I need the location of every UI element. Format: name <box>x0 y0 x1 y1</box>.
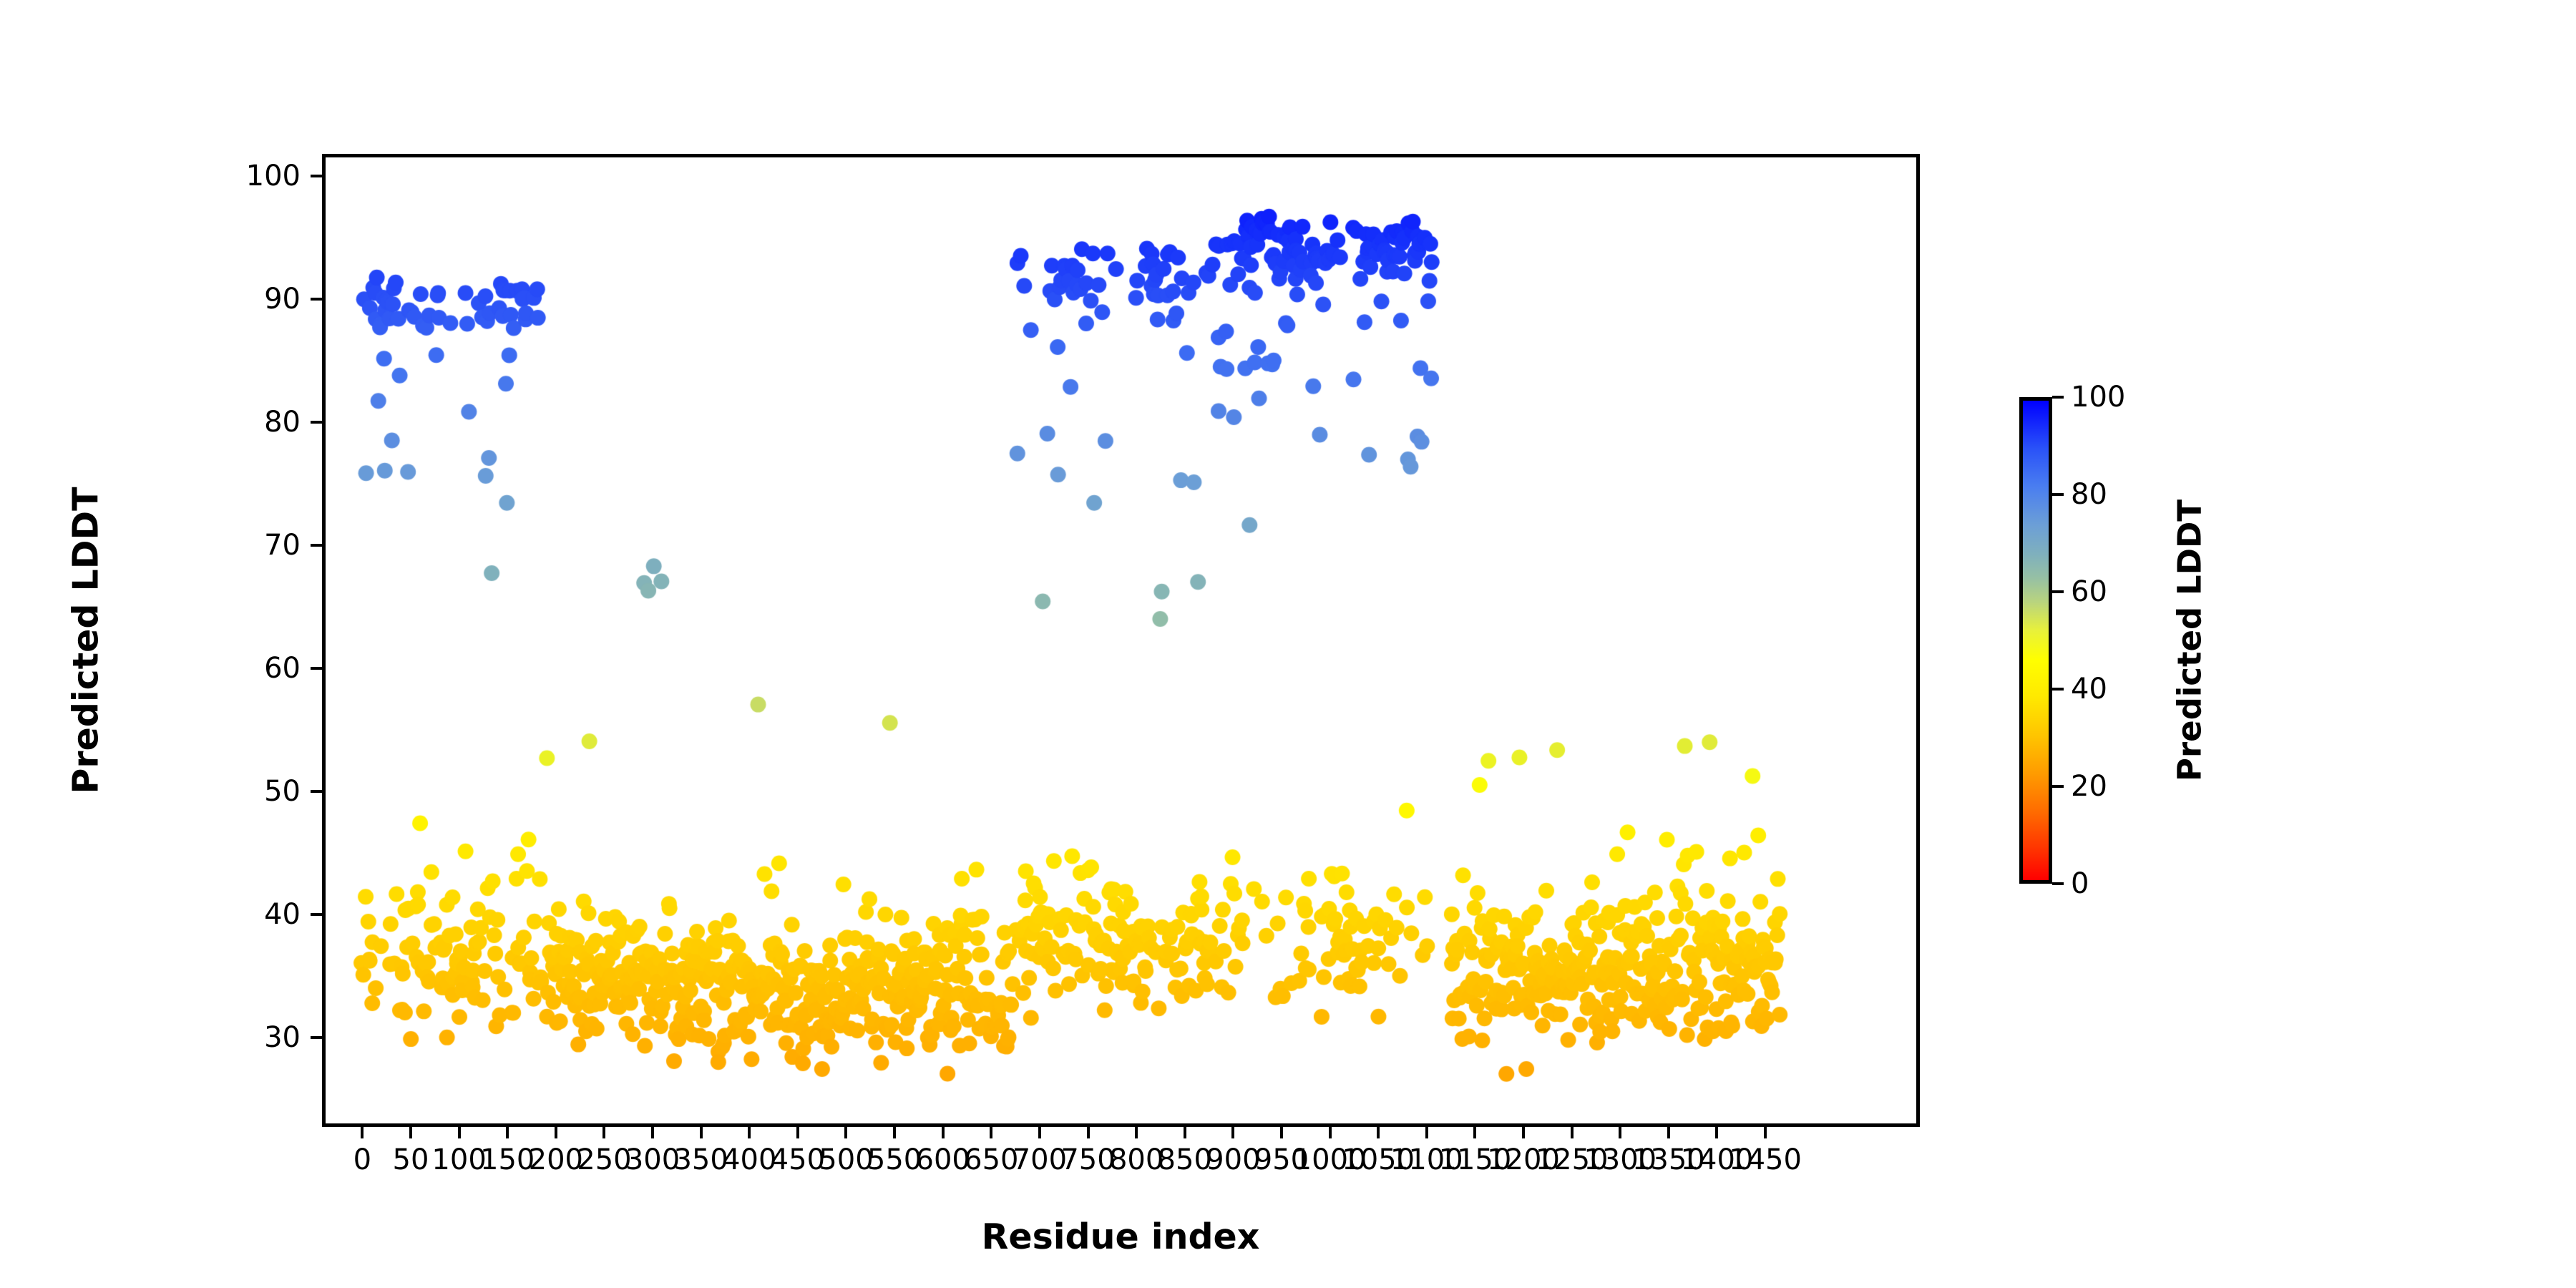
x-tick-mark <box>1038 1127 1041 1138</box>
x-tick-mark <box>700 1127 703 1138</box>
x-tick-mark <box>409 1127 412 1138</box>
y-tick-mark <box>311 421 322 424</box>
colorbar-tick-label: 60 <box>2071 575 2107 608</box>
x-tick-mark <box>1667 1127 1670 1138</box>
x-tick-mark <box>1619 1127 1621 1138</box>
x-tick-label: 850 <box>1158 1143 1212 1176</box>
x-tick-label: 600 <box>916 1143 970 1176</box>
x-tick-mark <box>796 1127 799 1138</box>
x-tick-mark <box>1135 1127 1138 1138</box>
x-tick-mark <box>506 1127 509 1138</box>
x-tick-label: 800 <box>1109 1143 1163 1176</box>
x-tick-mark <box>990 1127 992 1138</box>
x-tick-label: 700 <box>1013 1143 1067 1176</box>
colorbar-tick-mark <box>2052 493 2064 496</box>
y-tick-mark <box>311 1036 322 1039</box>
x-tick-label: 750 <box>1060 1143 1115 1176</box>
x-tick-mark <box>555 1127 557 1138</box>
x-tick-label: 250 <box>577 1143 631 1176</box>
colorbar-gradient <box>2019 397 2052 884</box>
x-tick-label: 1450 <box>1729 1143 1802 1176</box>
x-tick-mark <box>1473 1127 1476 1138</box>
y-tick-label: 80 <box>0 406 301 439</box>
x-tick-label: 450 <box>771 1143 825 1176</box>
x-tick-mark <box>651 1127 654 1138</box>
x-tick-mark <box>893 1127 896 1138</box>
y-tick-label: 100 <box>0 160 301 192</box>
y-tick-label: 40 <box>0 898 301 931</box>
scatter-plot-canvas <box>326 157 1916 1123</box>
colorbar-tick-label: 40 <box>2071 673 2107 706</box>
x-tick-mark <box>1184 1127 1186 1138</box>
x-tick-mark <box>942 1127 945 1138</box>
x-tick-mark <box>1764 1127 1767 1138</box>
plot-axes <box>322 154 1920 1127</box>
y-tick-mark <box>311 667 322 670</box>
x-tick-mark <box>1377 1127 1380 1138</box>
x-tick-mark <box>1425 1127 1428 1138</box>
x-tick-mark <box>1280 1127 1283 1138</box>
x-tick-mark <box>1087 1127 1090 1138</box>
y-tick-label: 50 <box>0 775 301 808</box>
x-tick-mark <box>1571 1127 1574 1138</box>
y-tick-label: 60 <box>0 652 301 685</box>
x-tick-mark <box>1329 1127 1332 1138</box>
x-tick-label: 150 <box>480 1143 535 1176</box>
x-tick-mark <box>1231 1127 1234 1138</box>
y-tick-mark <box>311 175 322 177</box>
colorbar-tick-mark <box>2052 785 2064 788</box>
x-tick-label: 200 <box>529 1143 583 1176</box>
y-tick-mark <box>311 790 322 793</box>
colorbar-title: Predicted LDDT <box>2171 499 2209 781</box>
x-tick-mark <box>1715 1127 1718 1138</box>
colorbar-tick-label: 100 <box>2071 381 2125 414</box>
x-tick-mark <box>458 1127 461 1138</box>
colorbar-tick-label: 20 <box>2071 770 2107 803</box>
colorbar-tick-mark <box>2052 590 2064 593</box>
figure-root: 30405060708090100 0501001502002503003504… <box>0 0 2576 1288</box>
colorbar: 020406080100 <box>2019 397 2052 884</box>
y-tick-mark <box>311 544 322 547</box>
x-tick-label: 400 <box>722 1143 776 1176</box>
x-tick-label: 900 <box>1206 1143 1260 1176</box>
x-tick-label: 100 <box>431 1143 486 1176</box>
colorbar-tick-mark <box>2052 882 2064 885</box>
x-tick-mark <box>1522 1127 1525 1138</box>
x-tick-label: 500 <box>819 1143 873 1176</box>
x-tick-label: 350 <box>673 1143 728 1176</box>
y-tick-mark <box>311 298 322 301</box>
x-tick-label: 650 <box>964 1143 1018 1176</box>
colorbar-tick-mark <box>2052 396 2064 399</box>
x-tick-label: 50 <box>393 1143 429 1176</box>
colorbar-tick-label: 80 <box>2071 478 2107 511</box>
x-tick-label: 0 <box>353 1143 371 1176</box>
y-tick-mark <box>311 913 322 916</box>
y-tick-label: 90 <box>0 283 301 316</box>
colorbar-tick-label: 0 <box>2071 867 2089 900</box>
x-tick-mark <box>602 1127 605 1138</box>
x-tick-mark <box>361 1127 364 1138</box>
x-tick-mark <box>844 1127 847 1138</box>
x-tick-label: 300 <box>625 1143 680 1176</box>
y-tick-label: 30 <box>0 1021 301 1054</box>
x-axis-title: Residue index <box>982 1216 1260 1257</box>
x-tick-label: 550 <box>867 1143 922 1176</box>
colorbar-tick-mark <box>2052 688 2064 691</box>
y-tick-label: 70 <box>0 529 301 562</box>
y-axis-title: Predicted LDDT <box>66 487 107 794</box>
x-tick-mark <box>748 1127 751 1138</box>
